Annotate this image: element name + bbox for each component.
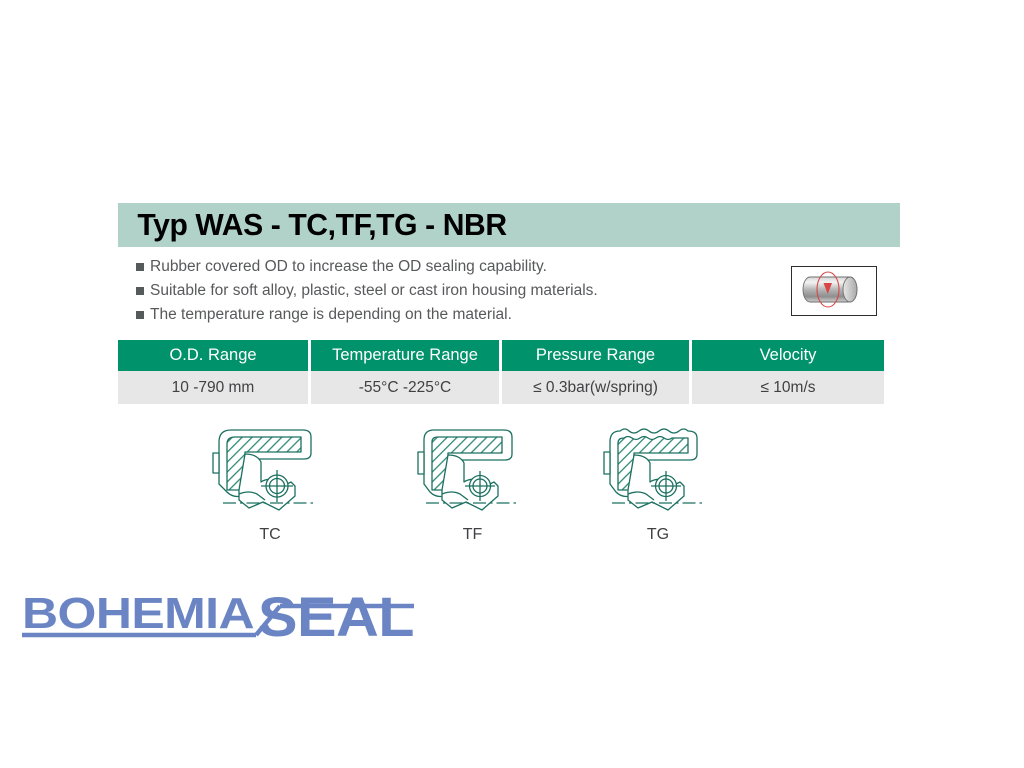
logo-primary-text: BOHEMIA bbox=[22, 589, 254, 638]
page-title: Typ WAS - TC,TF,TG - NBR bbox=[118, 207, 507, 243]
list-item: Rubber covered OD to increase the OD sea… bbox=[136, 257, 756, 279]
cell-pressure-range: ≤ 0.3bar(w/spring) bbox=[501, 371, 691, 404]
column-header-velocity: Velocity bbox=[691, 340, 885, 371]
column-header-temperature-range: Temperature Range bbox=[310, 340, 501, 371]
seal-diagram-tg: TG bbox=[598, 424, 718, 544]
feature-text: The temperature range is depending on th… bbox=[150, 305, 512, 325]
feature-text: Suitable for soft alloy, plastic, steel … bbox=[150, 281, 598, 301]
cell-velocity: ≤ 10m/s bbox=[691, 371, 885, 404]
bohemia-seal-logo: BOHEMIA SEAL bbox=[18, 578, 418, 646]
table-row: 10 -790 mm -55°C -225°C ≤ 0.3bar(w/sprin… bbox=[118, 371, 884, 404]
list-item: The temperature range is depending on th… bbox=[136, 305, 756, 327]
seal-diagram-tc: TC bbox=[205, 424, 335, 544]
rotating-shaft-icon bbox=[791, 266, 877, 316]
seal-diagram-tf: TF bbox=[410, 424, 535, 544]
seal-cross-section-tf bbox=[410, 424, 535, 524]
seal-label-tg: TG bbox=[598, 526, 718, 544]
square-bullet-icon bbox=[136, 263, 144, 271]
seal-cross-section-tc bbox=[205, 424, 335, 524]
seal-cross-section-tg bbox=[598, 424, 718, 524]
seal-label-tf: TF bbox=[410, 526, 535, 544]
list-item: Suitable for soft alloy, plastic, steel … bbox=[136, 281, 756, 303]
feature-text: Rubber covered OD to increase the OD sea… bbox=[150, 257, 547, 277]
seal-label-tc: TC bbox=[205, 526, 335, 544]
feature-list: Rubber covered OD to increase the OD sea… bbox=[136, 257, 756, 329]
table-header-row: O.D. Range Temperature Range Pressure Ra… bbox=[118, 340, 884, 371]
logo-secondary-text: SEAL bbox=[258, 585, 414, 646]
specification-table: O.D. Range Temperature Range Pressure Ra… bbox=[118, 340, 884, 404]
square-bullet-icon bbox=[136, 311, 144, 319]
cell-od-range: 10 -790 mm bbox=[118, 371, 310, 404]
column-header-pressure-range: Pressure Range bbox=[501, 340, 691, 371]
cell-temperature-range: -55°C -225°C bbox=[310, 371, 501, 404]
column-header-od-range: O.D. Range bbox=[118, 340, 310, 371]
page-title-bar: Typ WAS - TC,TF,TG - NBR bbox=[118, 203, 900, 247]
square-bullet-icon bbox=[136, 287, 144, 295]
